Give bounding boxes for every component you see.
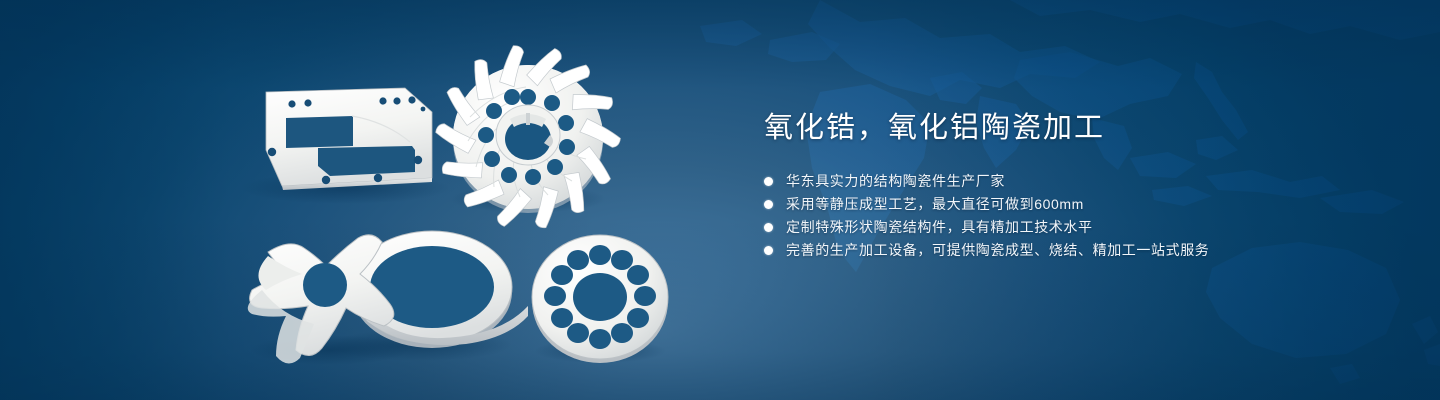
list-item: 采用等静压成型工艺，最大直径可做到600mm — [764, 193, 1384, 216]
list-item-label: 华东具实力的结构陶瓷件生产厂家 — [786, 173, 1005, 189]
list-item-label: 定制特殊形状陶瓷结构件，具有精加工技术水平 — [786, 219, 1093, 235]
list-item: 华东具实力的结构陶瓷件生产厂家 — [764, 170, 1384, 193]
list-item-label: 采用等静压成型工艺，最大直径可做到600mm — [786, 196, 1084, 212]
ceramic-plate-photo — [240, 88, 450, 204]
ceramic-impeller-photo — [434, 43, 623, 230]
list-item: 完善的生产加工设备，可提供陶瓷成型、烧结、精加工一站式服务 — [764, 239, 1384, 262]
bullet-dot-icon — [764, 246, 773, 255]
feature-list: 华东具实力的结构陶瓷件生产厂家 采用等静压成型工艺，最大直径可做到600mm 定… — [764, 170, 1384, 262]
bullet-dot-icon — [764, 223, 773, 232]
list-item: 定制特殊形状陶瓷结构件，具有精加工技术水平 — [764, 216, 1384, 239]
bullet-dot-icon — [764, 200, 773, 209]
hero-banner: 氧化锆，氧化铝陶瓷加工 华东具实力的结构陶瓷件生产厂家 采用等静压成型工艺，最大… — [0, 0, 1440, 400]
product-photo-group — [0, 0, 740, 400]
banner-copy: 氧化锆，氧化铝陶瓷加工 华东具实力的结构陶瓷件生产厂家 采用等静压成型工艺，最大… — [764, 108, 1384, 262]
list-item-label: 完善的生产加工设备，可提供陶瓷成型、烧结、精加工一站式服务 — [786, 242, 1209, 258]
banner-headline: 氧化锆，氧化铝陶瓷加工 — [764, 108, 1384, 148]
bullet-dot-icon — [764, 177, 773, 186]
ceramic-hole-disc-photo — [532, 235, 668, 363]
